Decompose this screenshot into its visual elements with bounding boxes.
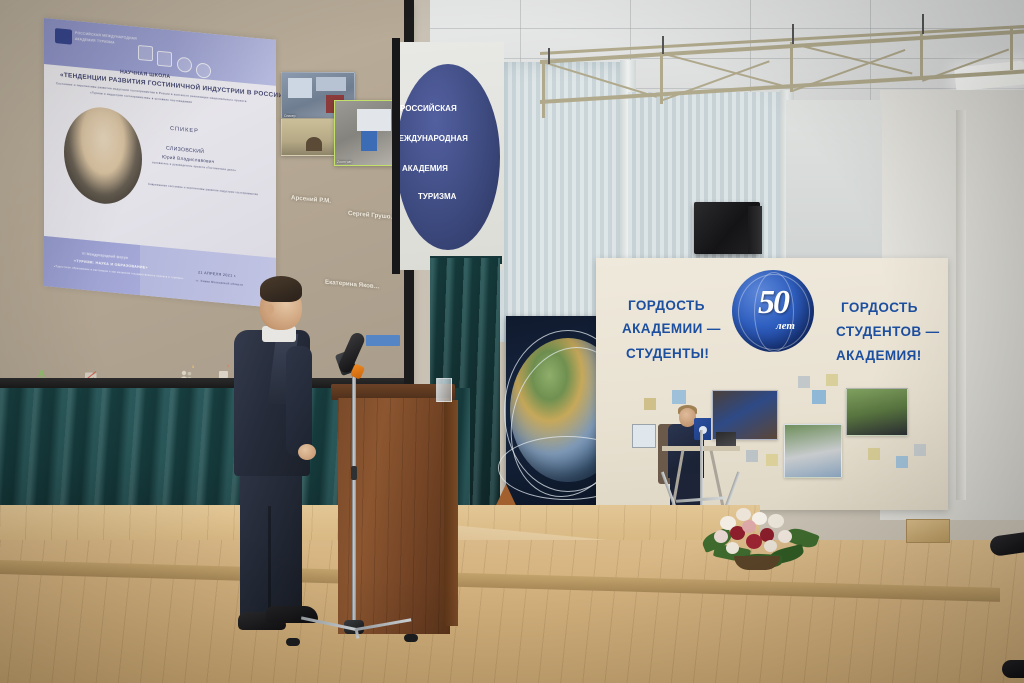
round-banner-line-2: МЕЖДУНАРОДНАЯ [392, 134, 468, 143]
flower-arrangement [702, 498, 820, 572]
zoom-tile-3-label: Zoom чат [337, 160, 352, 164]
step-block [906, 519, 950, 543]
decor-square [826, 374, 838, 386]
loudspeaker-side [748, 206, 762, 254]
slide-speaker-role: основатель и руководитель проекта «Гости… [152, 161, 236, 172]
banner-left-line-3: СТУДЕНТЫ! [626, 346, 709, 361]
speaker-hand [298, 444, 316, 460]
presentation-slide: РОССИЙСКАЯ МЕЖДУНАРОДНАЯ АКАДЕМИЯ ТУРИЗМ… [44, 18, 276, 308]
speaker-arm [286, 346, 312, 456]
participants-badge: 3 [192, 365, 194, 369]
round-banner-line-4: ТУРИЗМА [418, 192, 456, 201]
mic-stand-foot [404, 634, 418, 642]
ceiling-truss [540, 8, 1024, 118]
banner-right-line-1: ГОРДОСТЬ [841, 300, 918, 315]
slide-speaker-label: СПИКЕР [170, 126, 199, 135]
banner-right-line-2: СТУДЕНТОВ — [836, 324, 940, 339]
partner-logo-3-icon [177, 57, 192, 73]
round-blue-banner-circle [396, 64, 500, 250]
wall-corner [956, 110, 966, 500]
speaker-legs [240, 468, 302, 620]
banner-left-frame [392, 38, 400, 274]
offscreen-person-shoe [989, 531, 1024, 557]
zoom-participant-name-2: Сергей Грушо… [348, 210, 397, 221]
anniversary-number: 50 [732, 284, 814, 322]
speaker-portrait-photo [64, 104, 142, 207]
partner-logo-4-icon [196, 62, 211, 78]
picture-frame [632, 424, 656, 448]
offscreen-person-shoe-2 [1002, 660, 1024, 678]
decor-square [812, 390, 826, 404]
banner-photo-group [846, 388, 908, 436]
decor-square [746, 450, 758, 462]
conference-hall-photo: РОССИЙСКАЯ МЕЖДУНАРОДНАЯ АКАДЕМИЯ ТУРИЗМ… [0, 0, 1024, 683]
anniversary-globe-icon: 50 лет [732, 270, 814, 352]
decor-square [672, 390, 686, 404]
decor-square [644, 398, 656, 410]
speaker-leg-seam [268, 506, 271, 618]
round-banner-line-1: РОССИЙСКАЯ [400, 104, 457, 113]
speaker-ear [266, 304, 274, 314]
decor-square [914, 444, 926, 456]
projection-screen: РОССИЙСКАЯ МЕЖДУНАРОДНАЯ АКАДЕМИЯ ТУРИЗМ… [0, 0, 410, 392]
partner-logo-2-icon [157, 51, 172, 67]
decor-square [766, 454, 778, 466]
banner-right-line-3: АКАДЕМИЯ! [836, 348, 922, 363]
decor-square [798, 376, 810, 388]
window-blinds-right [786, 100, 882, 280]
banner-left-line-2: АКАДЕМИИ — [622, 321, 721, 336]
flower-vase [734, 556, 780, 570]
chat-badge: 1 [227, 364, 229, 368]
stage-floor [0, 540, 1024, 683]
partner-logo-1-icon [138, 45, 153, 61]
projection-surface: РОССИЙСКАЯ МЕЖДУНАРОДНАЯ АКАДЕМИЯ ТУРИЗМ… [0, 0, 410, 380]
standing-speaker [232, 276, 342, 636]
microphone-stand-pole [352, 372, 356, 630]
round-blue-banner: РОССИЙСКАЯ МЕЖДУНАРОДНАЯ АКАДЕМИЯ ТУРИЗМ… [398, 42, 504, 270]
speaker-hair [260, 276, 302, 302]
slide-speaker-surname: СЛИЗОВСКИЙ [166, 146, 204, 156]
anniversary-word: лет [776, 320, 795, 332]
decor-square [896, 456, 908, 468]
mic-stand-foot [286, 638, 300, 646]
decor-square [868, 448, 880, 460]
podium-side-panel [444, 400, 458, 626]
anniversary-banner: 50 лет ГОРДОСТЬ АКАДЕМИИ — СТУДЕНТЫ! ГОР… [596, 258, 948, 510]
banner-left-line-1: ГОРДОСТЬ [628, 298, 705, 313]
zoom-status-chip [366, 335, 400, 346]
water-glass [436, 378, 452, 402]
banner-photo-students [784, 424, 842, 478]
laptop[interactable] [716, 432, 736, 446]
riat-logo-icon [55, 28, 72, 45]
mic-pole-joint [351, 466, 357, 480]
zoom-participant-name-1: Арсений Р.М. [291, 194, 331, 204]
slide-speaker-note: Современное состояние и перспективы разв… [148, 183, 258, 196]
round-banner-line-3: АКАДЕМИЯ [402, 164, 448, 173]
